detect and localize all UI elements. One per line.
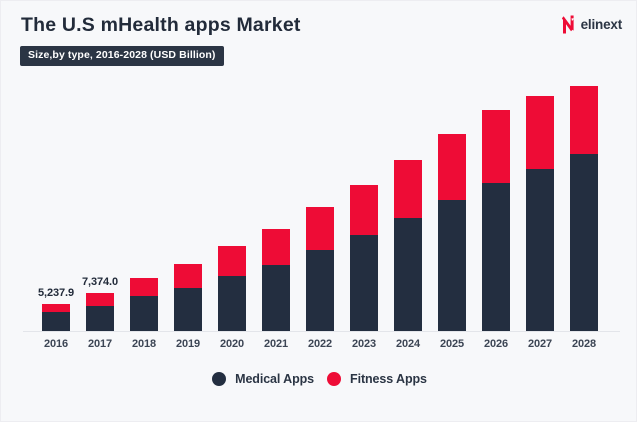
legend-item-medical-apps[interactable]: Medical Apps [212,372,314,386]
bar-segment-medical-apps-2019[interactable] [174,288,202,332]
bar-segment-medical-apps-2028[interactable] [570,154,598,332]
bar-group-2021[interactable] [262,229,290,332]
bar-value-label-2017: 7,374.0 [82,276,118,288]
bar-group-2024[interactable] [394,160,422,332]
bar-segment-medical-apps-2024[interactable] [394,218,422,332]
bar-stack-2021 [262,229,290,332]
bar-segment-medical-apps-2021[interactable] [262,265,290,332]
bar-segment-fitness-apps-2017[interactable] [86,293,114,306]
bar-group-2019[interactable] [174,264,202,332]
x-tick-label-2024: 2024 [386,338,430,350]
bar-group-2023[interactable] [350,185,378,332]
x-tick-label-2022: 2022 [298,338,342,350]
elinext-n-mark-icon [561,15,576,34]
bar-group-2016[interactable]: 5,237.9 [42,304,70,332]
x-tick-label-2020: 2020 [210,338,254,350]
x-axis-line [23,331,620,332]
bar-segment-fitness-apps-2025[interactable] [438,134,466,200]
bar-group-2028[interactable] [570,86,598,332]
bar-segment-medical-apps-2018[interactable] [130,296,158,332]
bar-stack-2024 [394,160,422,332]
bar-segment-fitness-apps-2021[interactable] [262,229,290,265]
bar-stack-2025 [438,134,466,332]
bar-segment-medical-apps-2025[interactable] [438,200,466,332]
bar-segment-fitness-apps-2028[interactable] [570,86,598,154]
bar-segment-medical-apps-2023[interactable] [350,235,378,332]
brand-logo-text: elinext [581,17,622,32]
bar-segment-fitness-apps-2016[interactable] [42,304,70,312]
bar-segment-fitness-apps-2027[interactable] [526,96,554,169]
x-tick-label-2026: 2026 [474,338,518,350]
bar-segment-fitness-apps-2024[interactable] [394,160,422,218]
bar-segment-fitness-apps-2023[interactable] [350,185,378,235]
legend-swatch-medical-apps [212,372,226,386]
bar-group-2026[interactable] [482,110,510,332]
bar-segment-medical-apps-2016[interactable] [42,312,70,332]
bar-segment-medical-apps-2020[interactable] [218,276,246,332]
bar-stack-2019 [174,264,202,332]
x-tick-label-2018: 2018 [122,338,166,350]
x-tick-label-2021: 2021 [254,338,298,350]
bar-stack-2018 [130,278,158,332]
bar-stack-2017: 7,374.0 [86,293,114,332]
bar-segment-medical-apps-2022[interactable] [306,250,334,332]
bar-stack-2027 [526,96,554,332]
bar-stack-2026 [482,110,510,332]
bar-stack-2022 [306,207,334,332]
x-axis-tick-labels: 2016201720182019202020212022202320242025… [23,338,618,356]
brand-logo: elinext [561,15,622,34]
bar-segment-fitness-apps-2026[interactable] [482,110,510,183]
chart-legend: Medical Apps Fitness Apps [1,372,637,386]
bar-stack-2028 [570,86,598,332]
bar-segment-medical-apps-2026[interactable] [482,183,510,332]
bar-segment-fitness-apps-2022[interactable] [306,207,334,250]
bar-stack-2023 [350,185,378,332]
bar-stack-2020 [218,246,246,332]
x-tick-label-2023: 2023 [342,338,386,350]
bar-group-2022[interactable] [306,207,334,332]
bar-group-2020[interactable] [218,246,246,332]
x-tick-label-2016: 2016 [34,338,78,350]
bar-segment-fitness-apps-2020[interactable] [218,246,246,276]
x-tick-label-2019: 2019 [166,338,210,350]
chart-subtitle-badge: Size,by type, 2016-2028 (USD Billion) [20,46,224,66]
bar-segment-medical-apps-2027[interactable] [526,169,554,332]
x-tick-label-2027: 2027 [518,338,562,350]
bar-stack-2016: 5,237.9 [42,304,70,332]
bar-group-2018[interactable] [130,278,158,332]
bar-segment-fitness-apps-2019[interactable] [174,264,202,288]
chart-title: The U.S mHealth apps Market [21,14,301,37]
bar-segment-fitness-apps-2018[interactable] [130,278,158,296]
plot-area: 5,237.97,374.0 [23,73,618,332]
legend-item-fitness-apps[interactable]: Fitness Apps [327,372,427,386]
bar-group-2025[interactable] [438,134,466,332]
x-tick-label-2017: 2017 [78,338,122,350]
bar-value-label-2016: 5,237.9 [38,287,74,299]
x-tick-label-2028: 2028 [562,338,606,350]
chart-card: The U.S mHealth apps Market Size,by type… [0,0,637,422]
legend-swatch-fitness-apps [327,372,341,386]
bar-group-2027[interactable] [526,96,554,332]
legend-label-fitness-apps: Fitness Apps [350,372,427,386]
legend-label-medical-apps: Medical Apps [235,372,314,386]
bar-segment-medical-apps-2017[interactable] [86,306,114,332]
bar-group-2017[interactable]: 7,374.0 [86,293,114,332]
x-tick-label-2025: 2025 [430,338,474,350]
